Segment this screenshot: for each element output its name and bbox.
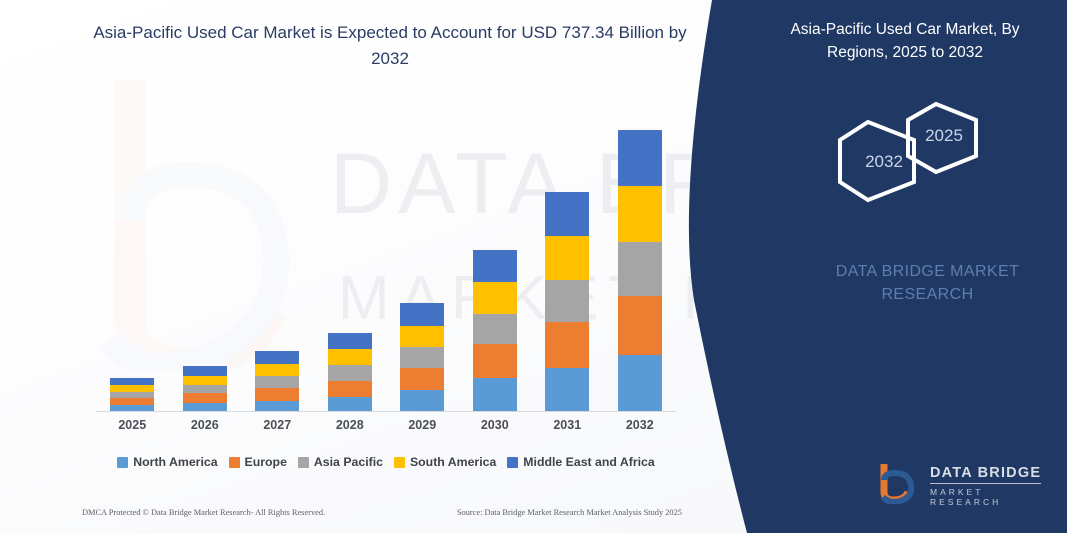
bar-segment-asia-pacific[interactable] — [255, 376, 299, 388]
bar-segment-middle-east-and-africa[interactable] — [618, 130, 662, 186]
x-axis-label-2032: 2032 — [606, 418, 674, 432]
bar-segment-north-america[interactable] — [618, 355, 662, 412]
legend-label: Middle East and Africa — [523, 455, 654, 469]
bar-column-2028[interactable] — [316, 112, 384, 412]
bar-column-2027[interactable] — [243, 112, 311, 412]
bar-column-2032[interactable] — [606, 112, 674, 412]
bar-segment-north-america[interactable] — [328, 397, 372, 412]
bar-segment-middle-east-and-africa[interactable] — [183, 366, 227, 376]
x-axis-label-2031: 2031 — [533, 418, 601, 432]
bar-segment-middle-east-and-africa[interactable] — [328, 333, 372, 350]
bar-segment-asia-pacific[interactable] — [473, 314, 517, 344]
bar-segment-middle-east-and-africa[interactable] — [400, 303, 444, 325]
stacked-bar-2026[interactable] — [183, 366, 227, 412]
stacked-bar-2027[interactable] — [255, 351, 299, 412]
x-axis-label-2025: 2025 — [98, 418, 166, 432]
legend-label: South America — [410, 455, 496, 469]
x-axis-label-2027: 2027 — [243, 418, 311, 432]
chart-legend: North AmericaEuropeAsia PacificSouth Ame… — [96, 455, 676, 469]
bar-segment-south-america[interactable] — [255, 364, 299, 376]
x-axis-label-2026: 2026 — [171, 418, 239, 432]
legend-swatch-icon — [394, 457, 405, 468]
legend-swatch-icon — [507, 457, 518, 468]
data-bridge-logo-icon — [878, 462, 924, 504]
x-axis-line — [96, 411, 676, 412]
legend-item-middle-east-and-africa[interactable]: Middle East and Africa — [507, 455, 654, 469]
legend-item-north-america[interactable]: North America — [117, 455, 217, 469]
legend-label: Europe — [245, 455, 287, 469]
chart-plot-area — [96, 112, 676, 412]
bar-segment-europe[interactable] — [110, 398, 154, 405]
bar-segment-south-america[interactable] — [328, 349, 372, 365]
right-panel-title: Asia-Pacific Used Car Market, By Regions… — [760, 18, 1050, 65]
hexagon-2025-label: 2025 — [914, 126, 974, 146]
bar-segment-middle-east-and-africa[interactable] — [255, 351, 299, 364]
bar-segment-south-america[interactable] — [400, 326, 444, 348]
logo-line2: MARKET RESEARCH — [930, 487, 1053, 507]
footer-source: Source: Data Bridge Market Research Mark… — [457, 508, 682, 517]
legend-label: Asia Pacific — [314, 455, 383, 469]
bar-column-2026[interactable] — [171, 112, 239, 412]
data-bridge-logo: DATA BRIDGE MARKET RESEARCH — [878, 462, 1053, 504]
stacked-bar-2031[interactable] — [545, 192, 589, 412]
stacked-bar-2032[interactable] — [618, 130, 662, 412]
bar-segment-asia-pacific[interactable] — [545, 280, 589, 322]
infographic-root: DATA BRI MARKET RESEARCH Asia-Pacific Us… — [0, 0, 1067, 533]
stacked-bar-2025[interactable] — [110, 378, 154, 412]
bar-segment-asia-pacific[interactable] — [618, 242, 662, 296]
hexagon-group: 2032 2025 — [810, 98, 1040, 218]
bar-column-2030[interactable] — [461, 112, 529, 412]
bar-segment-asia-pacific[interactable] — [183, 385, 227, 393]
page-title: Asia-Pacific Used Car Market is Expected… — [90, 20, 690, 73]
bar-segment-middle-east-and-africa[interactable] — [110, 378, 154, 385]
hexagon-2032-label: 2032 — [854, 152, 914, 172]
bar-segment-europe[interactable] — [328, 381, 372, 397]
bar-segment-europe[interactable] — [400, 368, 444, 391]
legend-item-europe[interactable]: Europe — [229, 455, 287, 469]
bar-segment-middle-east-and-africa[interactable] — [545, 192, 589, 236]
bar-segment-north-america[interactable] — [545, 368, 589, 412]
legend-swatch-icon — [298, 457, 309, 468]
bar-segment-asia-pacific[interactable] — [400, 347, 444, 367]
x-axis-labels: 20252026202720282029203020312032 — [96, 418, 676, 432]
legend-item-south-america[interactable]: South America — [394, 455, 496, 469]
bar-segment-south-america[interactable] — [110, 385, 154, 392]
bar-segment-north-america[interactable] — [473, 378, 517, 412]
bar-group — [96, 112, 676, 412]
footer: DMCA Protected © Data Bridge Market Rese… — [82, 508, 682, 517]
bar-segment-europe[interactable] — [545, 322, 589, 368]
legend-swatch-icon — [117, 457, 128, 468]
bar-segment-south-america[interactable] — [618, 186, 662, 242]
bar-segment-europe[interactable] — [473, 344, 517, 378]
bar-segment-south-america[interactable] — [183, 376, 227, 385]
bar-column-2029[interactable] — [388, 112, 456, 412]
stacked-bar-2030[interactable] — [473, 250, 517, 412]
brand-subtitle: DATA BRIDGE MARKET RESEARCH — [805, 260, 1050, 306]
bar-segment-south-america[interactable] — [473, 282, 517, 314]
legend-label: North America — [133, 455, 217, 469]
bar-column-2031[interactable] — [533, 112, 601, 412]
footer-copyright: DMCA Protected © Data Bridge Market Rese… — [82, 508, 325, 517]
legend-swatch-icon — [229, 457, 240, 468]
bar-segment-europe[interactable] — [255, 388, 299, 401]
stacked-bar-2029[interactable] — [400, 303, 444, 412]
bar-segment-middle-east-and-africa[interactable] — [473, 250, 517, 282]
stacked-bar-2028[interactable] — [328, 333, 372, 412]
bar-segment-asia-pacific[interactable] — [328, 365, 372, 381]
bar-segment-europe[interactable] — [183, 393, 227, 403]
x-axis-label-2028: 2028 — [316, 418, 384, 432]
bar-segment-europe[interactable] — [618, 296, 662, 355]
x-axis-label-2029: 2029 — [388, 418, 456, 432]
x-axis-label-2030: 2030 — [461, 418, 529, 432]
stacked-bar-chart — [96, 112, 676, 412]
legend-item-asia-pacific[interactable]: Asia Pacific — [298, 455, 383, 469]
bar-column-2025[interactable] — [98, 112, 166, 412]
bar-segment-south-america[interactable] — [545, 236, 589, 280]
bar-segment-north-america[interactable] — [400, 390, 444, 412]
logo-line1: DATA BRIDGE — [930, 465, 1041, 484]
